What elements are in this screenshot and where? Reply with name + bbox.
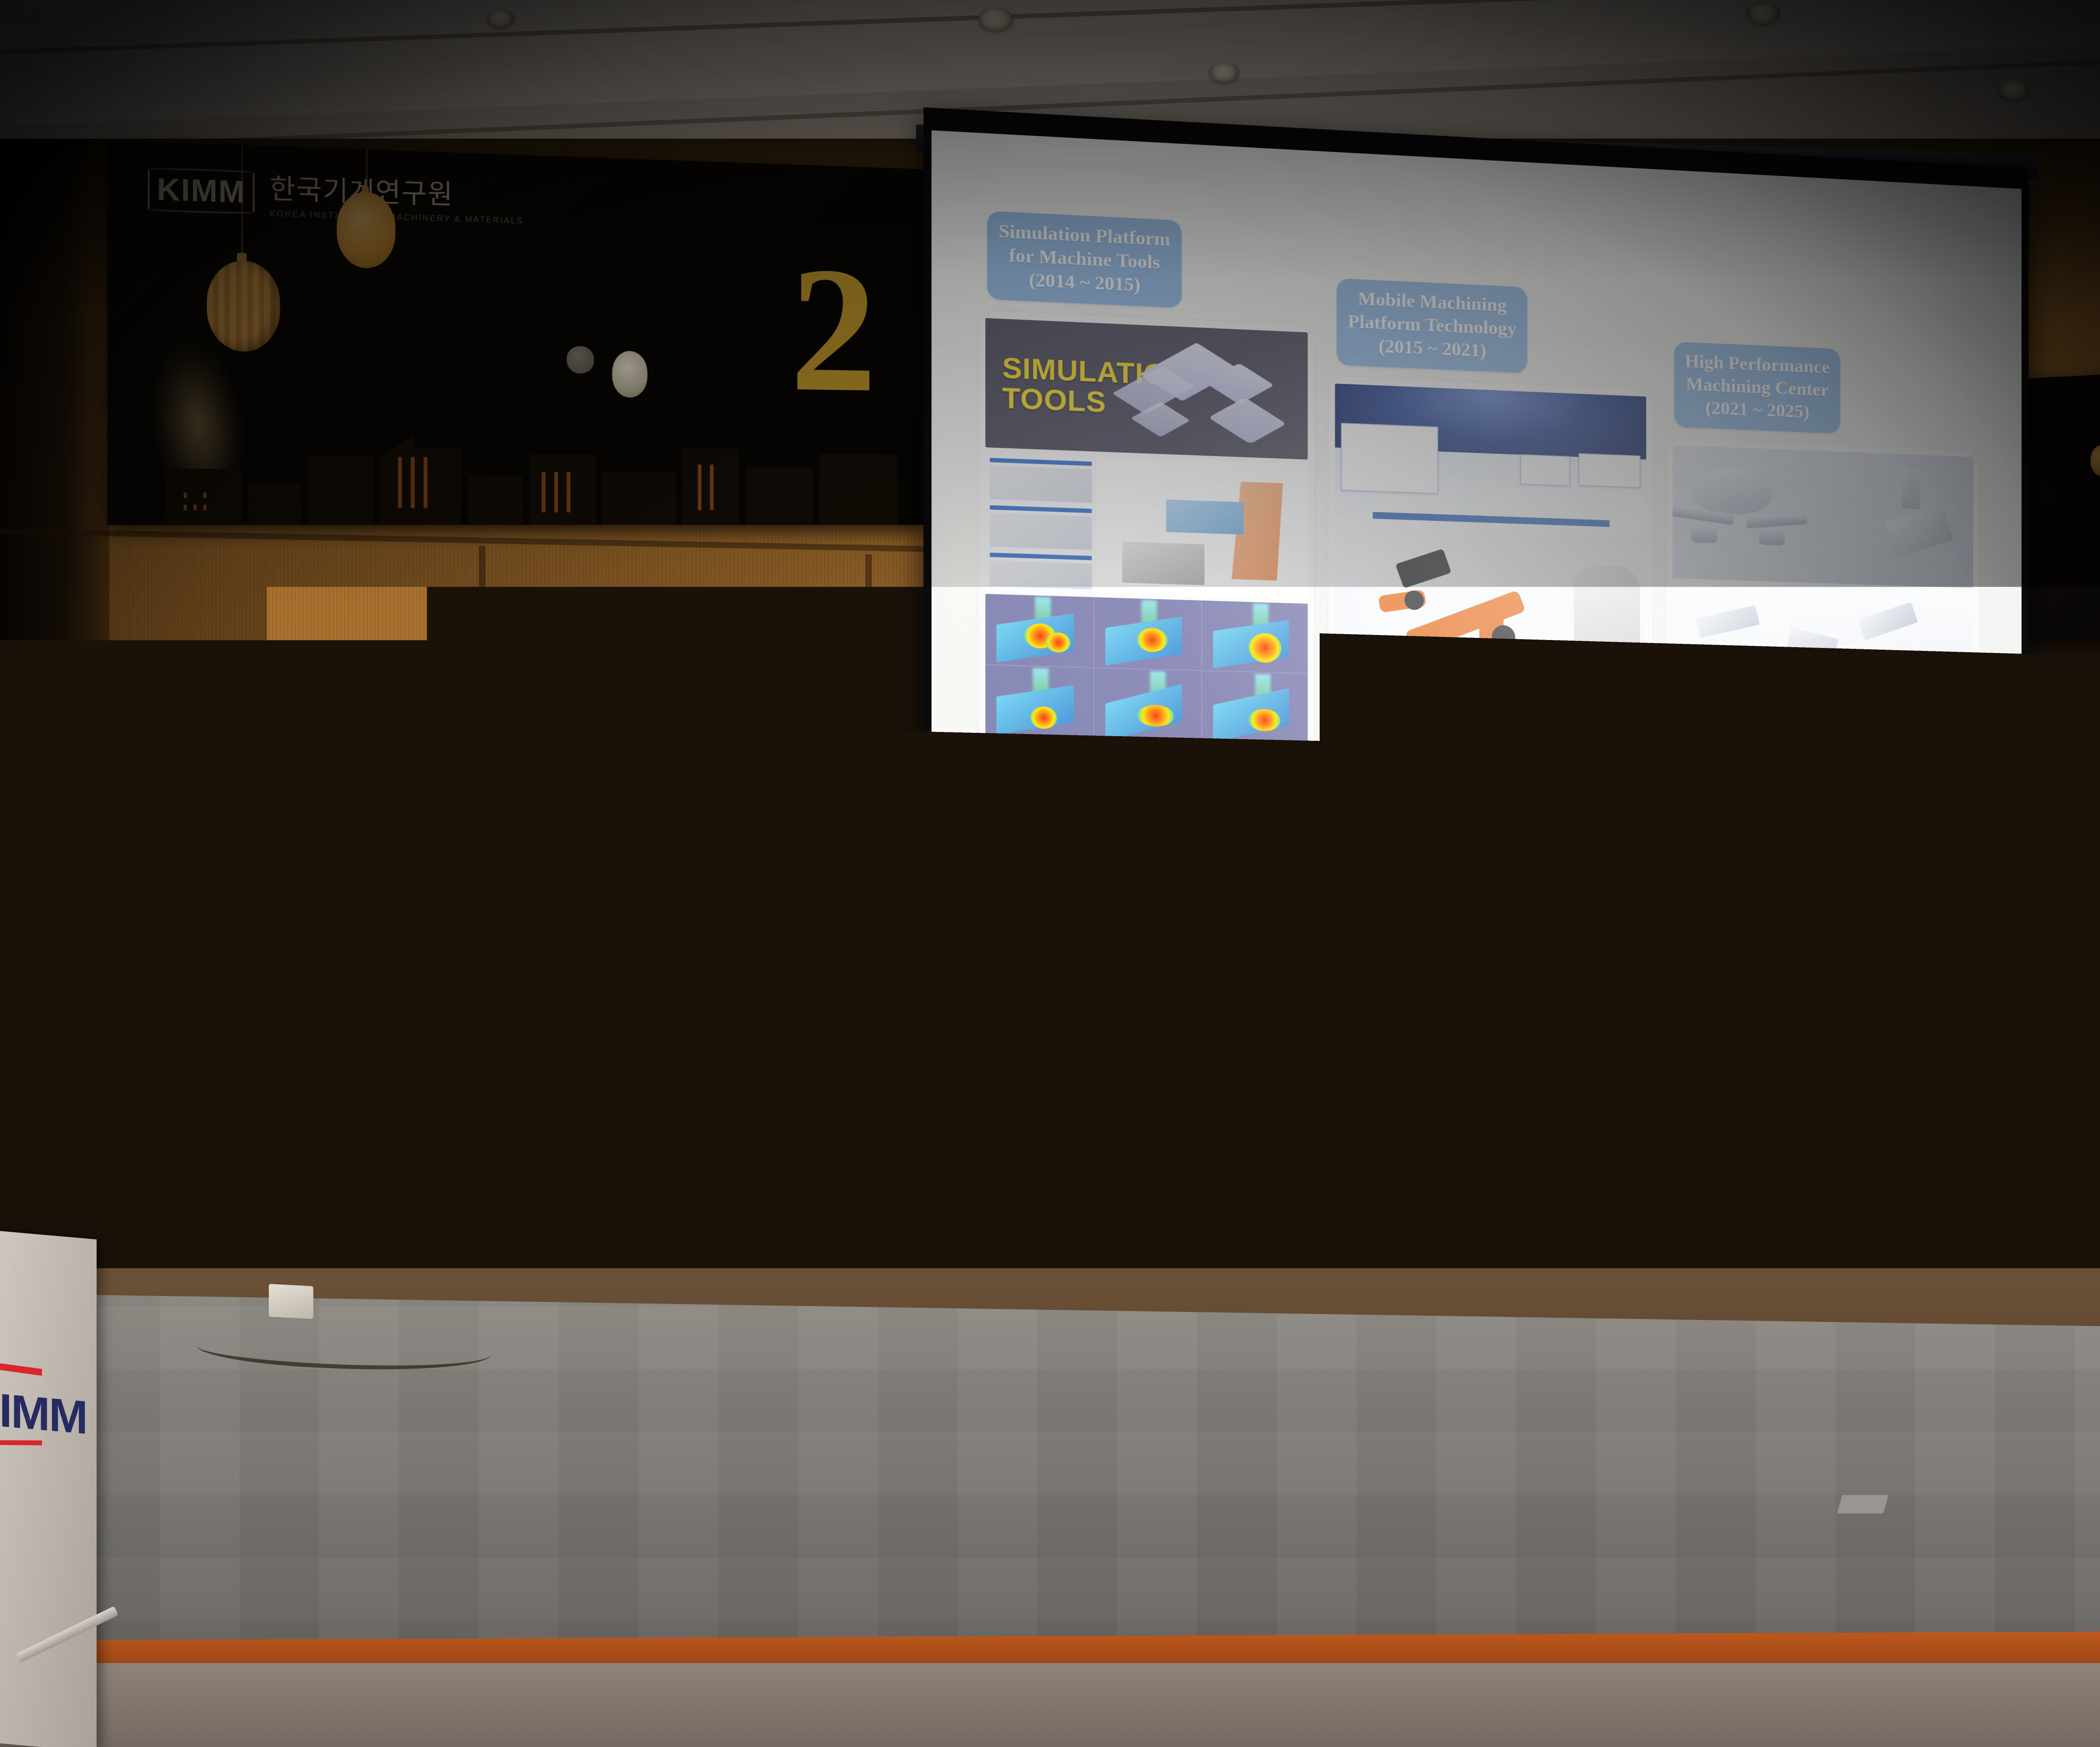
tracking-node [1597,803,1611,817]
slide-column-1: Simulation Platform for Machine Tools (2… [971,210,1322,811]
cad-thumbnail [990,465,1092,503]
lower-floor [0,1663,2100,1747]
tracking-grid [1340,727,1642,833]
aircraft-machining-photo [1672,445,1973,588]
aircraft-fuselage [1691,467,1772,516]
skyline-window [184,493,186,498]
skyline-building [745,467,813,525]
cad-sidebar [985,451,1096,593]
caption-bar [1373,512,1609,527]
machine-part [1896,815,1948,845]
tracking-marker [1442,754,1448,760]
tracking-node [1535,792,1549,806]
skyline-window [554,472,558,512]
kimm-logo-banner: KIMM 한국기계연구원 KOREA INSTITUTE OF MACHINER… [148,163,523,226]
ornament-string [241,145,243,256]
kimm-korean-name: 한국기계연구원 [270,167,524,214]
skyline-window [184,505,186,510]
skyline-window [411,457,415,508]
tracking-marker [1566,752,1572,758]
machine-enclosure [1691,763,1744,847]
fea-cell [1202,672,1308,744]
fea-cell [1095,669,1201,741]
robot-controller [1395,548,1452,588]
slide-column-1-task: Task: Design tool predicting performance… [985,747,1308,797]
aerospace-parts-illustration [1672,582,1973,744]
skyline-window [698,464,702,510]
aerospace-part [1828,679,1884,710]
cad-software-screenshot [985,451,1308,599]
tracking-node [1386,793,1400,808]
isometric-illustration [1118,328,1299,457]
skyline-building [249,484,301,525]
fea-cell [985,666,1093,739]
ornament-ball-small [2091,444,2100,477]
ceiling-downlight [487,9,514,28]
presenter-nose [660,848,682,884]
slide-column-3: High Performance Machining Center (2021 … [1659,341,1986,935]
skyline-building [468,475,522,525]
skyline-building [380,435,461,525]
ceiling-downlight [1210,62,1239,82]
lecture-hall-scene: KIMM 한국기계연구원 KOREA INSTITUTE OF MACHINER… [0,0,2100,1747]
ornament-ball-small [567,346,594,374]
skyline-window [398,457,402,508]
skyline-building [602,472,676,525]
cad-divider [990,458,1092,466]
skyline-window [194,505,197,510]
machine-table [1770,805,1855,856]
cad-model-base [1122,541,1205,585]
skyline-window [424,457,428,508]
presenter-trousers [575,1361,811,1747]
ornament-string [366,150,367,189]
aerospace-part [1714,668,1785,698]
skyline-building [819,454,898,525]
podium: KIMM [0,1230,97,1747]
aerospace-part [1786,627,1839,664]
ornament-ball [337,191,396,269]
audio-speaker-left [0,983,42,1243]
presentation-slide: Simulation Platform for Machine Tools (2… [932,130,2021,842]
machine-column [1788,758,1837,799]
aerospace-part [1906,654,1953,683]
machining-center-photo [1672,740,1973,871]
skyline-building [308,456,373,525]
cad-viewport [1096,456,1308,599]
aerospace-part [1858,602,1918,640]
skyline-window [542,472,546,512]
slide-column-2-title: Mobile Machining Platform Technology (20… [1337,278,1528,373]
presentation-clicker[interactable] [542,1422,574,1469]
ceiling-downlight [1747,3,1780,24]
slide-column-3-title: High Performance Machining Center (2021 … [1674,341,1840,433]
slide-column-1-card: SIMULATION TOOLS [978,310,1315,811]
wall-power-outlet[interactable] [269,1284,313,1319]
fea-cell [1095,597,1201,670]
kimm-wordmark: KIMM [148,169,255,212]
slide-column-2-card: Task: Develop single and multi tracking … [1328,375,1653,912]
photo-inset [1578,453,1641,488]
banner-year-numeral: 2 [790,259,873,400]
skyline-window [710,464,714,510]
wall-panel-seam [479,546,486,1134]
projection-screen-surface: Simulation Platform for Machine Tools (2… [932,130,2021,1236]
skyline-window [567,472,570,512]
ornament-ball-small [612,351,648,398]
cad-model-beam [1166,499,1244,535]
robot-arm-photo [1335,527,1646,717]
kimm-event-banner-left: KIMM 한국기계연구원 KOREA INSTITUTE OF MACHINER… [107,140,927,525]
fea-hotspot [1046,632,1070,653]
machine-spindle [1818,746,1829,784]
aircraft-engine [1759,528,1785,546]
floor-outlet-plate [1837,1495,1889,1514]
presenter-waistband [575,1356,811,1375]
aircraft-engine [1691,525,1717,543]
kimm-event-banner-right [2023,360,2100,639]
skyline-window [203,493,206,498]
slide-column-2-task: Task: Develop single and multi tracking … [1335,852,1646,900]
cad-divider [990,505,1092,513]
simulation-tools-banner-image: SIMULATION TOOLS [985,318,1308,459]
robot-joint [1404,590,1424,610]
cad-thumbnail [990,513,1092,550]
skyline-building [529,454,596,525]
ceiling-downlight [979,8,1013,31]
logo-accent-bar-top [0,1358,42,1376]
photo-inset [1520,454,1570,486]
slide-column-1-title: Simulation Platform for Machine Tools (2… [987,211,1181,308]
iso-shape [1208,397,1286,444]
eyeglass-lens-left [609,818,668,855]
eyeglass-lens-right [686,818,745,855]
kimm-logo-text: KIMM [0,1380,87,1445]
skyline-window [203,505,206,510]
aircraft-wing [1746,513,1807,528]
eyeglass-bridge [668,830,687,834]
machining-tool-head [1885,505,1953,557]
photo-inset [1341,422,1438,494]
kimm-logo-podium: KIMM [0,1354,67,1459]
cad-thumbnail [990,560,1092,589]
fea-cell [985,594,1093,667]
projection-screen: Simulation Platform for Machine Tools (2… [924,108,2029,1283]
aerospace-part [1696,605,1760,638]
speaker-cone [0,1109,38,1188]
slide-column-3-card: Task: Develop high precision machining s… [1666,437,1980,935]
fea-cell [1202,601,1308,673]
measuring-system-overview-image [1335,383,1646,534]
robot-joint [1492,625,1515,649]
tracking-diagram [1335,713,1646,846]
cad-divider [990,553,1092,560]
presenter-mouth [658,890,694,906]
presenter [496,714,924,1747]
fea-simulation-grid [985,594,1308,744]
slide-column-3-task: Task: Develop high precision machining s… [1672,876,1973,923]
machining-spindle [1902,467,1920,509]
ceiling-downlight [1999,80,2029,100]
slide-column-2: Mobile Machining Platform Technology (20… [1321,278,1659,913]
